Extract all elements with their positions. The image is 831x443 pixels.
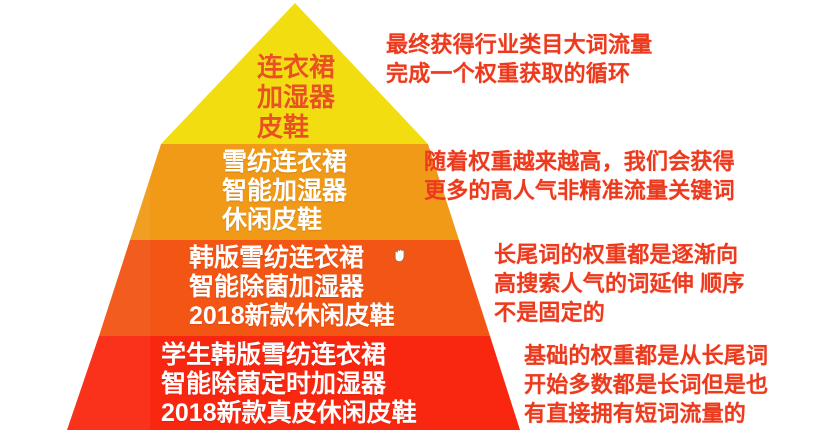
pyramid-tier-3-shape <box>99 240 490 336</box>
note-4-line-1: 基础的权重都是从长尾词 <box>524 341 768 370</box>
annotation-note-4: 基础的权重都是从长尾词 开始多数都是长词但是也 有直接拥有短词流量的 <box>524 341 768 428</box>
pyramid-tier-2-shape <box>130 144 459 240</box>
annotation-note-2: 随着权重越来越高，我们会获得 更多的高人气非精准流量关键词 <box>424 147 735 205</box>
note-3-line-2: 高搜索人气的词延伸 顺序 <box>494 269 745 298</box>
note-1-line-1: 最终获得行业类目大词流量 <box>386 30 652 59</box>
note-1-line-2: 完成一个权重获取的循环 <box>386 59 652 88</box>
note-3-line-1: 长尾词的权重都是逐渐向 <box>494 240 745 269</box>
annotation-note-3: 长尾词的权重都是逐渐向 高搜索人气的词延伸 顺序 不是固定的 <box>494 240 745 327</box>
note-4-line-2: 开始多数都是长词但是也 <box>524 370 768 399</box>
slide-canvas: 连衣裙 加湿器 皮鞋 雪纺连衣裙 智能加湿器 休闲皮鞋 韩版雪纺连衣裙 智能除菌… <box>0 0 831 443</box>
note-4-line-3: 有直接拥有短词流量的 <box>524 399 768 428</box>
note-2-line-2: 更多的高人气非精准流量关键词 <box>424 176 735 205</box>
note-3-line-3: 不是固定的 <box>494 298 745 327</box>
annotation-note-1: 最终获得行业类目大词流量 完成一个权重获取的循环 <box>386 30 652 88</box>
note-2-line-1: 随着权重越来越高，我们会获得 <box>424 147 735 176</box>
